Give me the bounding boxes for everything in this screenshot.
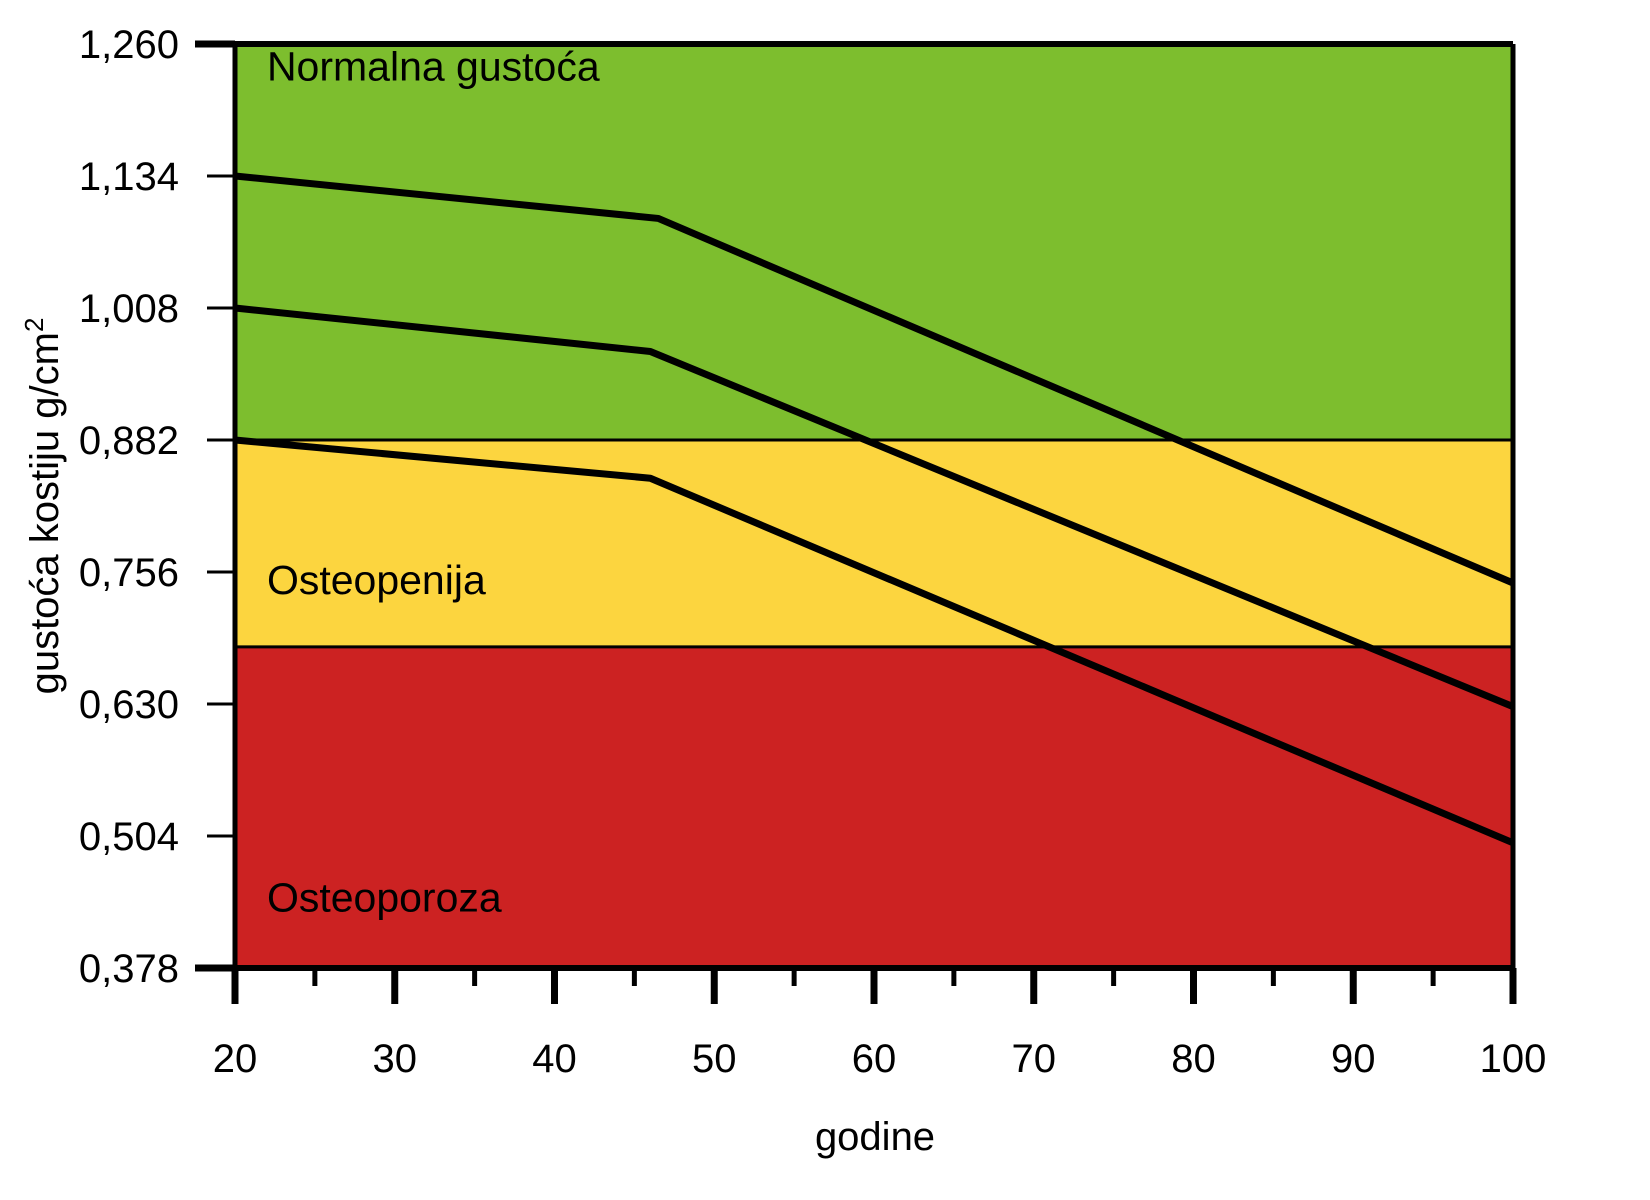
y-tick-label: 1,260 [79,23,179,67]
x-tick-label: 20 [213,1037,258,1081]
y-axis-ticks [195,44,235,968]
x-tick-label: 80 [1171,1037,1216,1081]
x-axis-ticks [235,968,1513,1004]
y-axis-title: gustoća kostiju g/cm2 [19,318,67,695]
y-axis-title-group: gustoća kostiju g/cm2 [19,318,67,695]
x-tick-label: 50 [692,1037,737,1081]
x-tick-label: 90 [1331,1037,1376,1081]
zone-bands [235,44,1513,968]
zone-band-osteopenia [235,440,1513,647]
bone-density-chart: 0,3780,5040,6300,7560,8821,0081,1341,260… [0,0,1650,1200]
zone-label-normal: Normalna gustoća [267,44,600,90]
y-tick-label: 0,378 [79,947,179,991]
x-tick-label: 70 [1012,1037,1057,1081]
y-tick-label: 0,756 [79,551,179,595]
x-axis-tick-labels: 2030405060708090100 [213,1037,1547,1081]
zone-label-osteoporosis: Osteoporoza [267,874,502,920]
zone-label-osteopenia: Osteopenija [267,557,486,603]
zone-band-normal [235,44,1513,440]
chart-root: 0,3780,5040,6300,7560,8821,0081,1341,260… [0,0,1650,1200]
y-tick-label: 1,008 [79,287,179,331]
y-tick-label: 0,882 [79,419,179,463]
x-tick-label: 40 [532,1037,577,1081]
x-axis-title: godine [815,1115,935,1159]
y-tick-label: 1,134 [79,155,179,199]
x-tick-label: 60 [852,1037,897,1081]
y-tick-label: 0,504 [79,815,179,859]
y-axis-tick-labels: 0,3780,5040,6300,7560,8821,0081,1341,260 [79,23,179,991]
x-tick-label: 30 [373,1037,418,1081]
y-tick-label: 0,630 [79,683,179,727]
x-tick-label: 100 [1480,1037,1547,1081]
